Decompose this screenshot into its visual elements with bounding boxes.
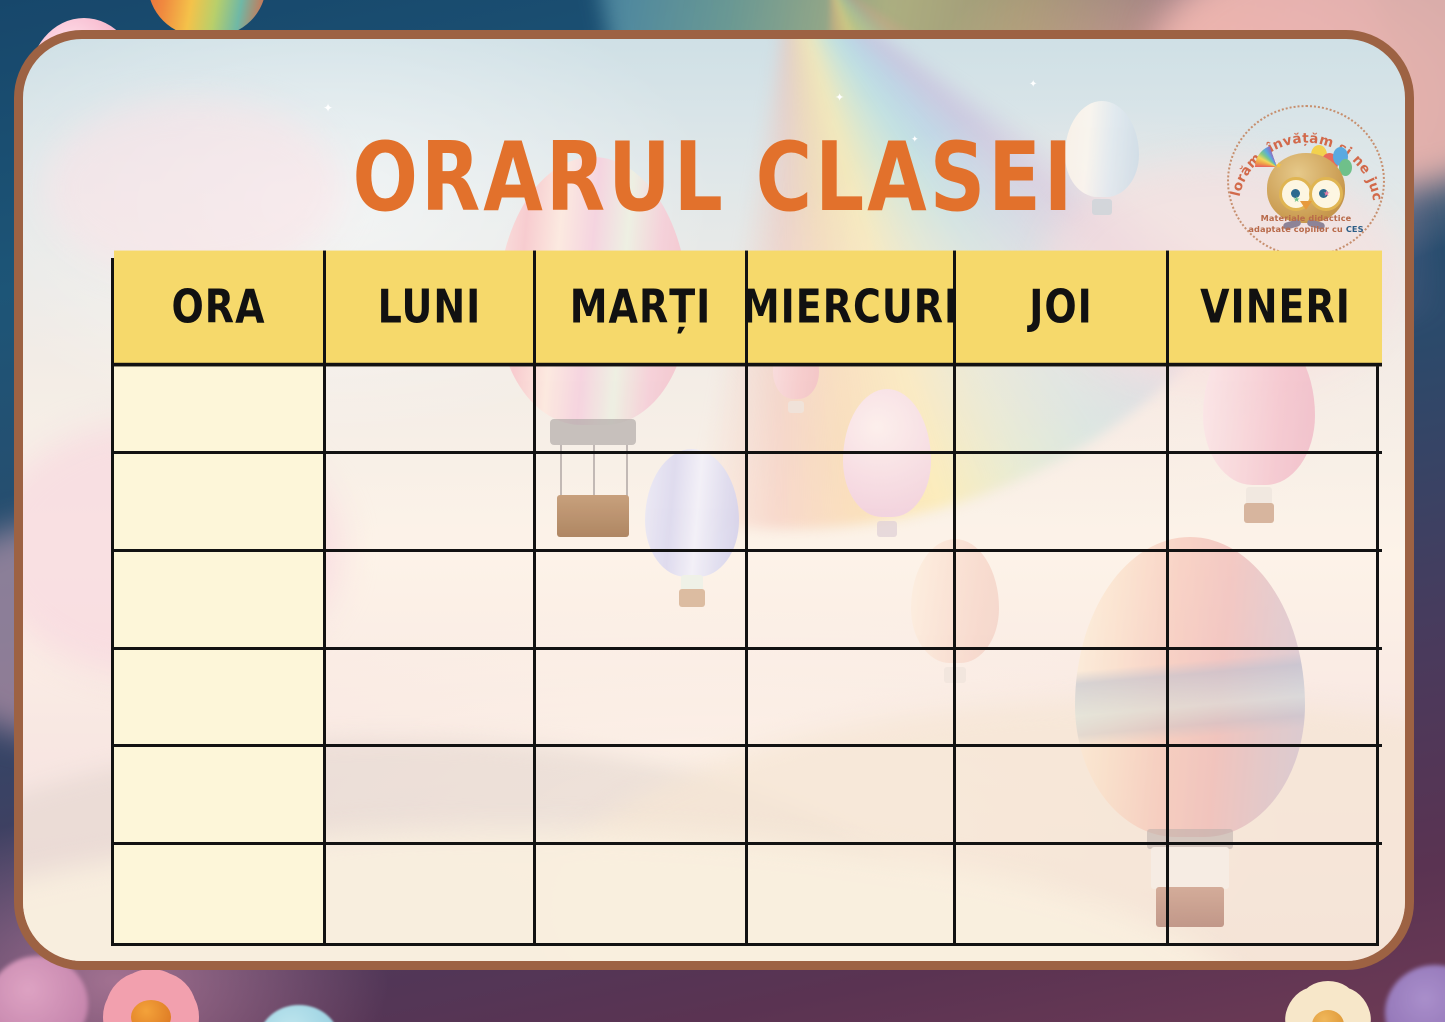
poster-card: ✦ ✦ ✦ ✦ ✦	[14, 30, 1414, 970]
column-header-ora: ORA	[114, 251, 326, 367]
schedule-cell-miercuri[interactable]	[748, 845, 956, 943]
hour-cell[interactable]	[114, 747, 326, 845]
sparkle-icon: ✦	[1029, 79, 1037, 90]
column-header-label: LUNI	[378, 280, 482, 334]
schedule-cell-marti[interactable]	[536, 454, 748, 552]
sparkle-icon: ★	[1323, 189, 1330, 198]
schedule-cell-miercuri[interactable]	[748, 552, 956, 650]
schedule-cell-joi[interactable]	[956, 650, 1169, 748]
schedule-cell-vineri[interactable]	[1169, 454, 1382, 552]
sparkle-icon: ✦	[323, 101, 333, 115]
column-header-miercuri: MIERCURI	[748, 251, 956, 367]
schedule-cell-luni[interactable]	[326, 454, 536, 552]
schedule-cell-vineri[interactable]	[1169, 552, 1382, 650]
schedule-cell-luni[interactable]	[326, 845, 536, 943]
schedule-cell-vineri[interactable]	[1169, 356, 1382, 454]
hour-cell[interactable]	[114, 845, 326, 943]
logo-subtitle-line1: Materiale didactice	[1223, 213, 1389, 224]
schedule-cell-joi[interactable]	[956, 845, 1169, 943]
flower-purple-bottom-right	[1380, 958, 1445, 1022]
column-header-vineri: VINERI	[1169, 251, 1382, 367]
schedule-table: ORA LUNI MARȚI MIERCURI JOI VINERI	[111, 258, 1379, 946]
schedule-cell-marti[interactable]	[536, 552, 748, 650]
logo-subtitle: Materiale didactice adaptate copiilor cu…	[1223, 213, 1389, 235]
schedule-cell-miercuri[interactable]	[748, 356, 956, 454]
sparkle-icon: ✦	[835, 91, 844, 104]
schedule-cell-joi[interactable]	[956, 552, 1169, 650]
column-header-label: VINERI	[1200, 280, 1351, 334]
schedule-cell-joi[interactable]	[956, 356, 1169, 454]
sparkle-icon: ★	[1275, 161, 1282, 170]
schedule-cell-marti[interactable]	[536, 747, 748, 845]
flower-blue-bottom	[256, 1000, 342, 1022]
schedule-cell-luni[interactable]	[326, 552, 536, 650]
column-header-joi: JOI	[956, 251, 1169, 367]
schedule-cell-luni[interactable]	[326, 650, 536, 748]
hour-cell[interactable]	[114, 454, 326, 552]
hour-cell[interactable]	[114, 650, 326, 748]
schedule-cell-luni[interactable]	[326, 747, 536, 845]
schedule-cell-miercuri[interactable]	[748, 454, 956, 552]
logo-ces-badge: CES	[1346, 224, 1364, 234]
hour-cell[interactable]	[114, 356, 326, 454]
schedule-cell-vineri[interactable]	[1169, 747, 1382, 845]
sparkle-icon: ★	[1293, 195, 1300, 204]
schedule-cell-marti[interactable]	[536, 356, 748, 454]
brand-logo: Explorăm, învățăm și ne jucăm	[1223, 101, 1389, 261]
column-header-label: JOI	[1029, 280, 1093, 334]
column-header-luni: LUNI	[326, 251, 536, 367]
schedule-cell-joi[interactable]	[956, 454, 1169, 552]
schedule-cell-miercuri[interactable]	[748, 747, 956, 845]
schedule-cell-vineri[interactable]	[1169, 845, 1382, 943]
page-title: ORARUL CLASEI	[23, 123, 1405, 233]
flower-cream-bottom-right	[1268, 970, 1388, 1022]
schedule-cell-luni[interactable]	[326, 356, 536, 454]
hour-cell[interactable]	[114, 552, 326, 650]
owl-beak	[1300, 201, 1312, 210]
logo-subtitle-line2: adaptate copiilor cu CES	[1223, 224, 1389, 235]
column-header-label: MIERCURI	[742, 280, 959, 334]
schedule-cell-joi[interactable]	[956, 747, 1169, 845]
column-header-label: ORA	[172, 280, 266, 334]
poster-canvas: ✦ ✦ ✦ ✦ ✦	[0, 0, 1445, 1022]
schedule-cell-miercuri[interactable]	[748, 650, 956, 748]
column-header-marti: MARȚI	[536, 251, 748, 367]
column-header-label: MARȚI	[570, 280, 712, 334]
schedule-cell-vineri[interactable]	[1169, 650, 1382, 748]
schedule-cell-marti[interactable]	[536, 650, 748, 748]
schedule-cell-marti[interactable]	[536, 845, 748, 943]
logo-subtitle-line2-text: adaptate copiilor cu	[1248, 224, 1345, 234]
